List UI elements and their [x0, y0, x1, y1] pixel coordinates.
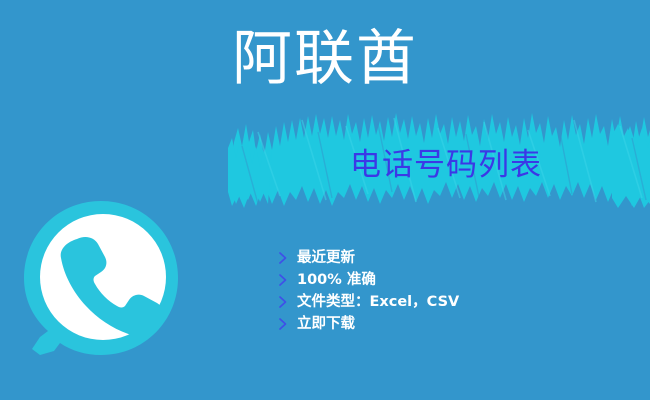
feature-label: 最近更新	[297, 247, 355, 269]
list-item: 最近更新	[276, 247, 459, 269]
list-item: 立即下载	[276, 313, 459, 335]
list-item: 文件类型：Excel，CSV	[276, 291, 459, 313]
chevron-right-icon	[276, 273, 290, 287]
page-subtitle: 电话号码列表	[228, 112, 650, 210]
feature-list: 最近更新 100% 准确 文件类型：Excel，CSV 立即下载	[276, 247, 459, 335]
chevron-right-icon	[276, 295, 290, 309]
subtitle-brush-highlight: 电话号码列表	[228, 112, 650, 210]
feature-label: 100% 准确	[297, 269, 376, 291]
feature-label: 文件类型：Excel，CSV	[297, 291, 459, 313]
chevron-right-icon	[276, 317, 290, 331]
page-title: 阿联酋	[0, 22, 650, 96]
chevron-right-icon	[276, 251, 290, 265]
promo-banner: 阿联酋	[0, 0, 650, 400]
list-item: 100% 准确	[276, 269, 459, 291]
whatsapp-phone-chat-icon	[20, 197, 182, 361]
feature-label: 立即下载	[297, 313, 355, 335]
